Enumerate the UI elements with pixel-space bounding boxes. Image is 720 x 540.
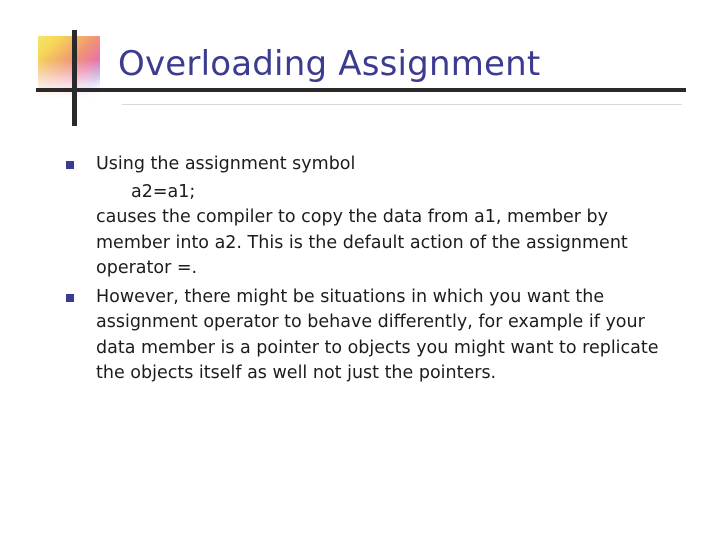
horizontal-rule [36, 88, 686, 92]
bullet-item-2: However, there might be situations in wh… [63, 285, 683, 387]
bullet-1-body-wrapper: causes the compiler to copy the data fro… [63, 205, 683, 282]
vertical-rule [72, 30, 77, 126]
page-title: Overloading Assignment [118, 40, 688, 88]
title-underline [122, 104, 682, 105]
slide: Overloading Assignment Using the assignm… [0, 0, 720, 540]
code-sample-text: a2=a1; [96, 180, 195, 206]
title-decoration [36, 30, 122, 126]
bullet-2-body: However, there might be situations in wh… [96, 285, 683, 387]
slide-body: Using the assignment symbol a2=a1; cause… [63, 152, 683, 389]
code-sample-line: a2=a1; [63, 180, 683, 206]
square-bullet-icon [66, 294, 74, 302]
bullet-1-intro: Using the assignment symbol [96, 152, 683, 178]
bullet-item-1: Using the assignment symbol [63, 152, 683, 178]
bullet-1-body: causes the compiler to copy the data fro… [96, 205, 683, 282]
square-bullet-icon [66, 161, 74, 169]
